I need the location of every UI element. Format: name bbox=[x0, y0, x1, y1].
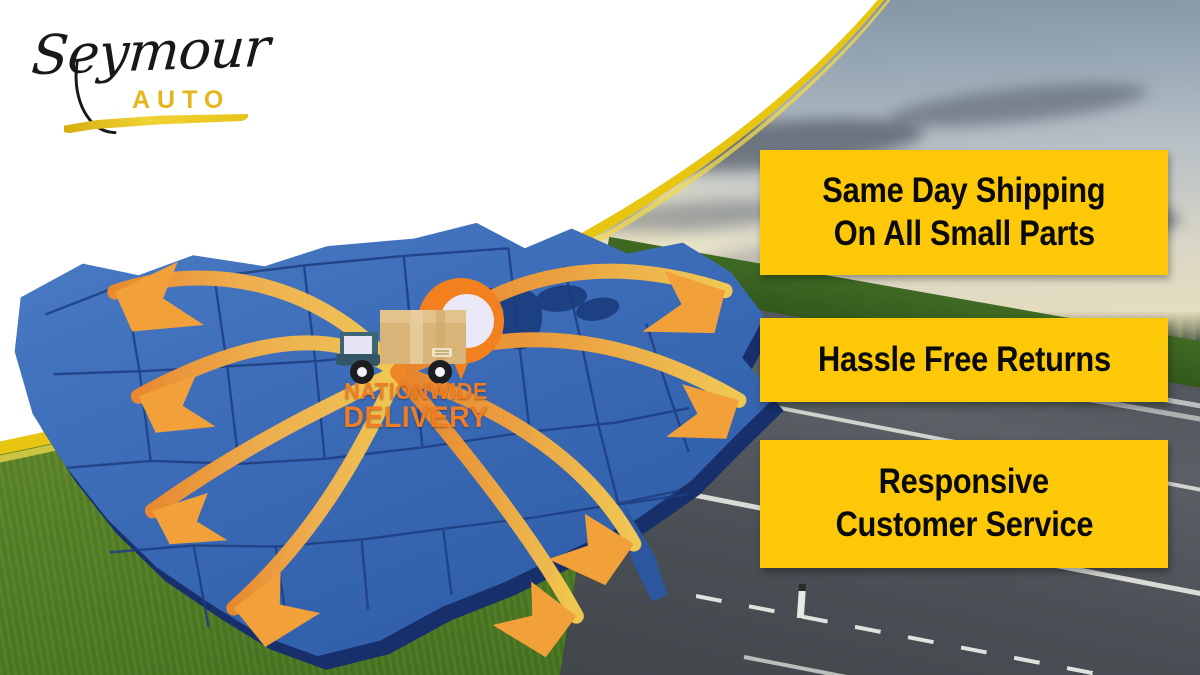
callout-line-2: DELIVERY bbox=[331, 403, 502, 434]
claim-line: Customer Service bbox=[835, 504, 1093, 547]
callout-line-1: NATIONWIDE bbox=[331, 380, 502, 403]
claim-line: Same Day Shipping bbox=[822, 170, 1105, 213]
claim-panel-same-day-shipping[interactable]: Same Day Shipping On All Small Parts bbox=[760, 150, 1168, 275]
nationwide-delivery-callout: NATIONWIDE DELIVERY bbox=[326, 276, 506, 448]
logo-wordmark: Seymour bbox=[29, 16, 271, 87]
claim-line: Hassle Free Returns bbox=[818, 339, 1111, 382]
claim-panel-responsive-customer-service[interactable]: Responsive Customer Service bbox=[760, 440, 1168, 568]
promo-banner: Seymour AUTO bbox=[0, 0, 1200, 675]
claim-panel-hassle-free-returns[interactable]: Hassle Free Returns bbox=[760, 318, 1168, 402]
logo-subtitle: AUTO bbox=[132, 86, 230, 115]
brand-logo[interactable]: Seymour AUTO bbox=[28, 18, 258, 128]
claim-line: Responsive bbox=[879, 461, 1049, 504]
claim-line: On All Small Parts bbox=[833, 213, 1094, 256]
callout-text: NATIONWIDE DELIVERY bbox=[326, 380, 506, 434]
